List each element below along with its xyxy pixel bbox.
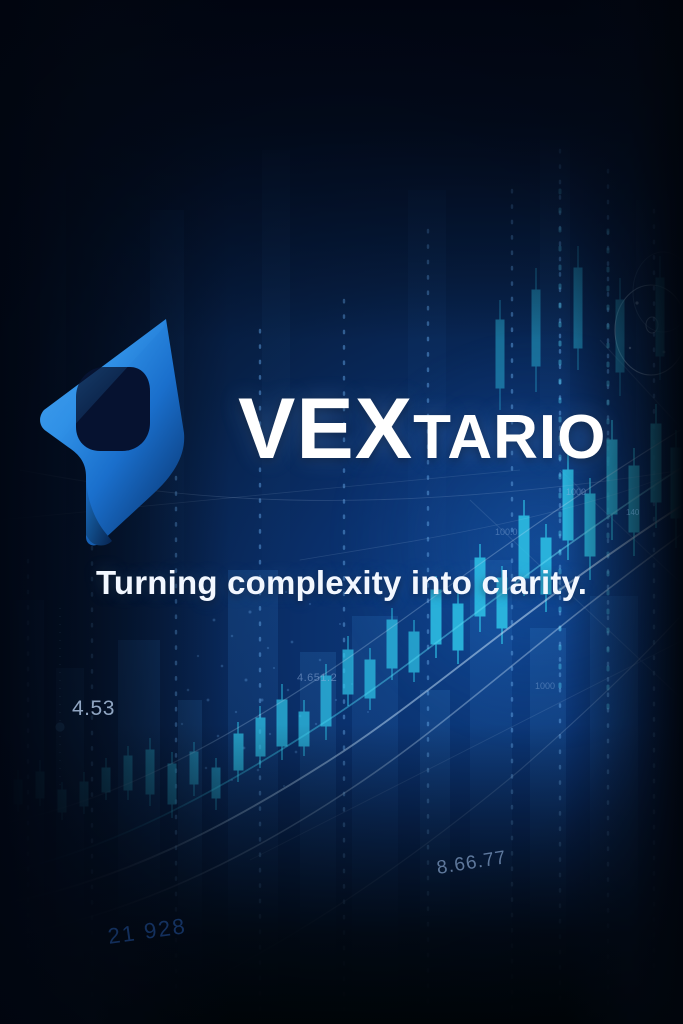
vignette-overlay (0, 0, 683, 1024)
brand-poster: 4.53 8.66.77 21 928 4.651.2 1000 100.0 1… (0, 0, 683, 1024)
